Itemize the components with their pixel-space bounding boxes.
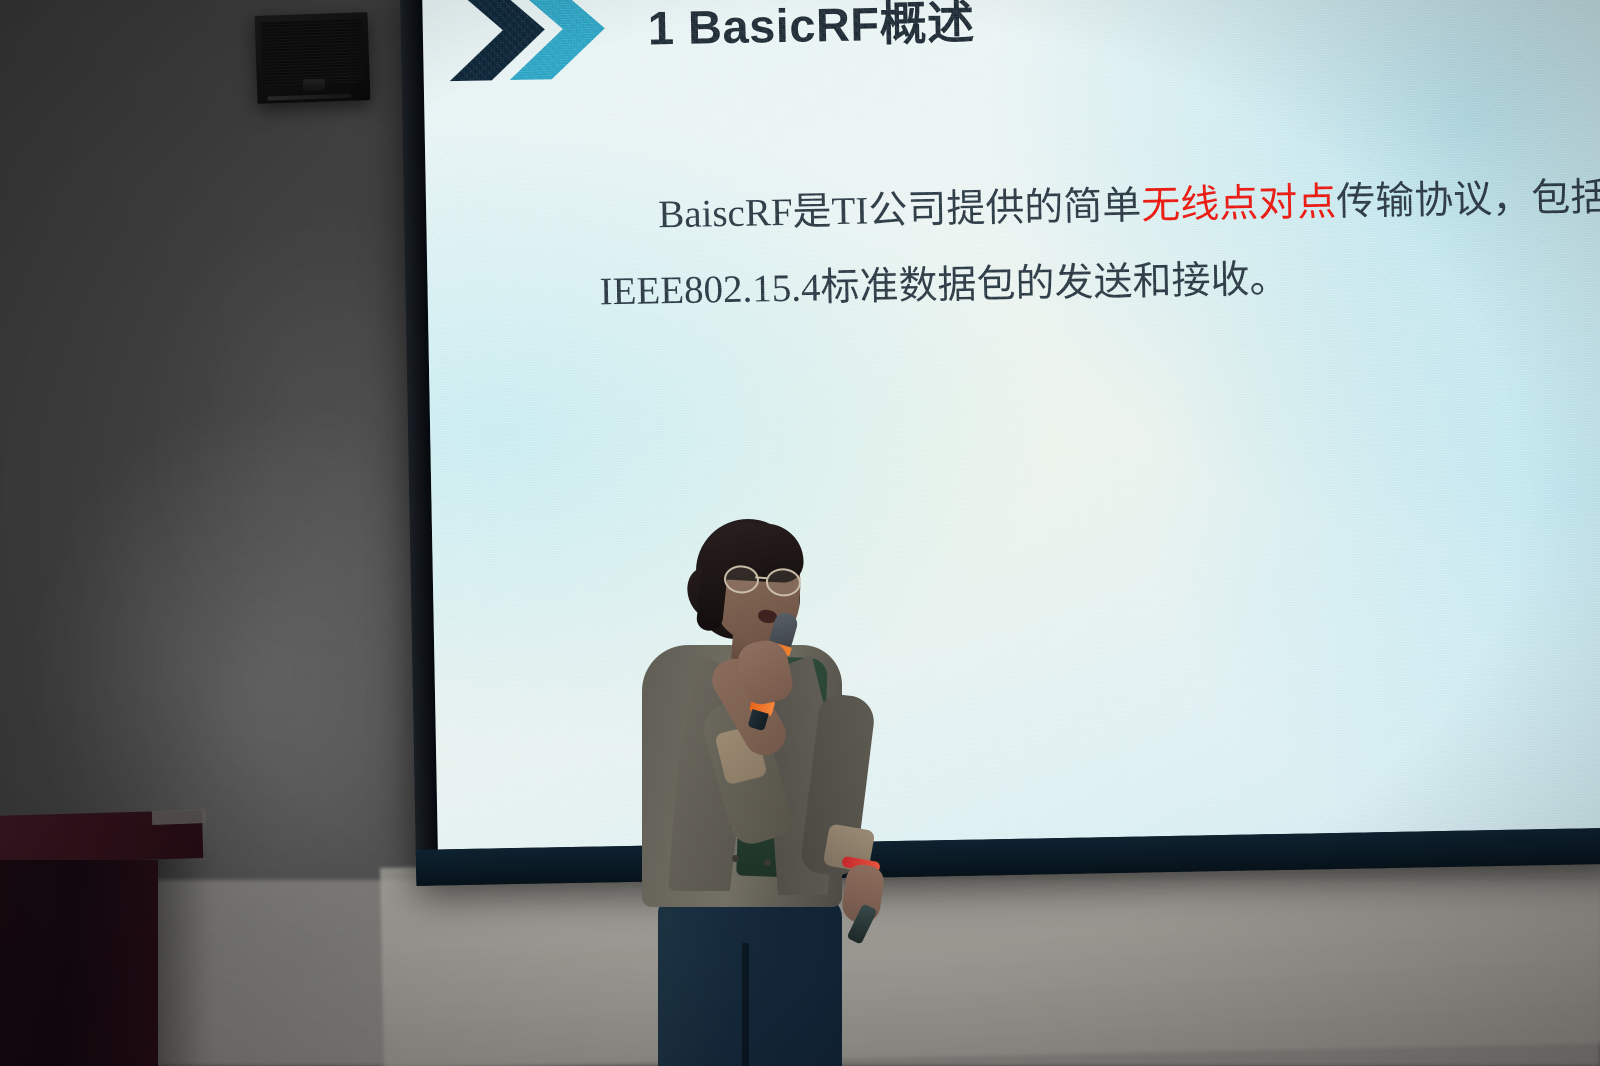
lectern-body bbox=[0, 860, 158, 1066]
slide-body: BaiscRF是TI公司提供的简单无线点对点传输协议，包括了 IEEE802.1… bbox=[658, 154, 1600, 329]
slide-title: 1 BasicRF概述 bbox=[647, 0, 975, 58]
chevron-right-navy-icon bbox=[440, 0, 562, 85]
wall-speaker-icon bbox=[254, 12, 370, 104]
speaker-badge bbox=[302, 79, 324, 92]
presenter-trousers bbox=[658, 897, 842, 1066]
presentation-photo: 1 BasicRF概述 BaiscRF是TI公司提供的简单无线点对点传输协议，包… bbox=[0, 0, 1600, 1066]
projection-screen: 1 BasicRF概述 BaiscRF是TI公司提供的简单无线点对点传输协议，包… bbox=[422, 0, 1600, 849]
slide-body-line-1: BaiscRF是TI公司提供的简单无线点对点传输协议，包括了 bbox=[658, 154, 1600, 253]
presenter bbox=[612, 505, 952, 1066]
body-seg-3: 传输协议，包括了 bbox=[1336, 175, 1600, 224]
lens-right bbox=[765, 567, 802, 597]
chevron-logo bbox=[440, 0, 642, 89]
lens-left bbox=[723, 564, 760, 594]
presenter-leg-seam bbox=[742, 943, 749, 1066]
eyeglasses-icon bbox=[723, 564, 805, 596]
lectern-lip bbox=[152, 809, 206, 825]
slide: 1 BasicRF概述 BaiscRF是TI公司提供的简单无线点对点传输协议，包… bbox=[422, 0, 1600, 849]
speaker-grille bbox=[261, 18, 364, 85]
body-seg-1: BaiscRF是TI公司提供的简单 bbox=[658, 184, 1142, 236]
blazer-button bbox=[732, 855, 739, 862]
lectern bbox=[0, 816, 205, 1066]
projection-screen-frame: 1 BasicRF概述 BaiscRF是TI公司提供的简单无线点对点传输协议，包… bbox=[400, 0, 1600, 886]
blazer-button bbox=[764, 859, 771, 866]
body-seg-highlight: 无线点对点 bbox=[1141, 181, 1337, 228]
body-seg-4: IEEE802.15.4标准数据包的发送和接收。 bbox=[599, 258, 1289, 314]
speaker-foot bbox=[267, 94, 351, 101]
